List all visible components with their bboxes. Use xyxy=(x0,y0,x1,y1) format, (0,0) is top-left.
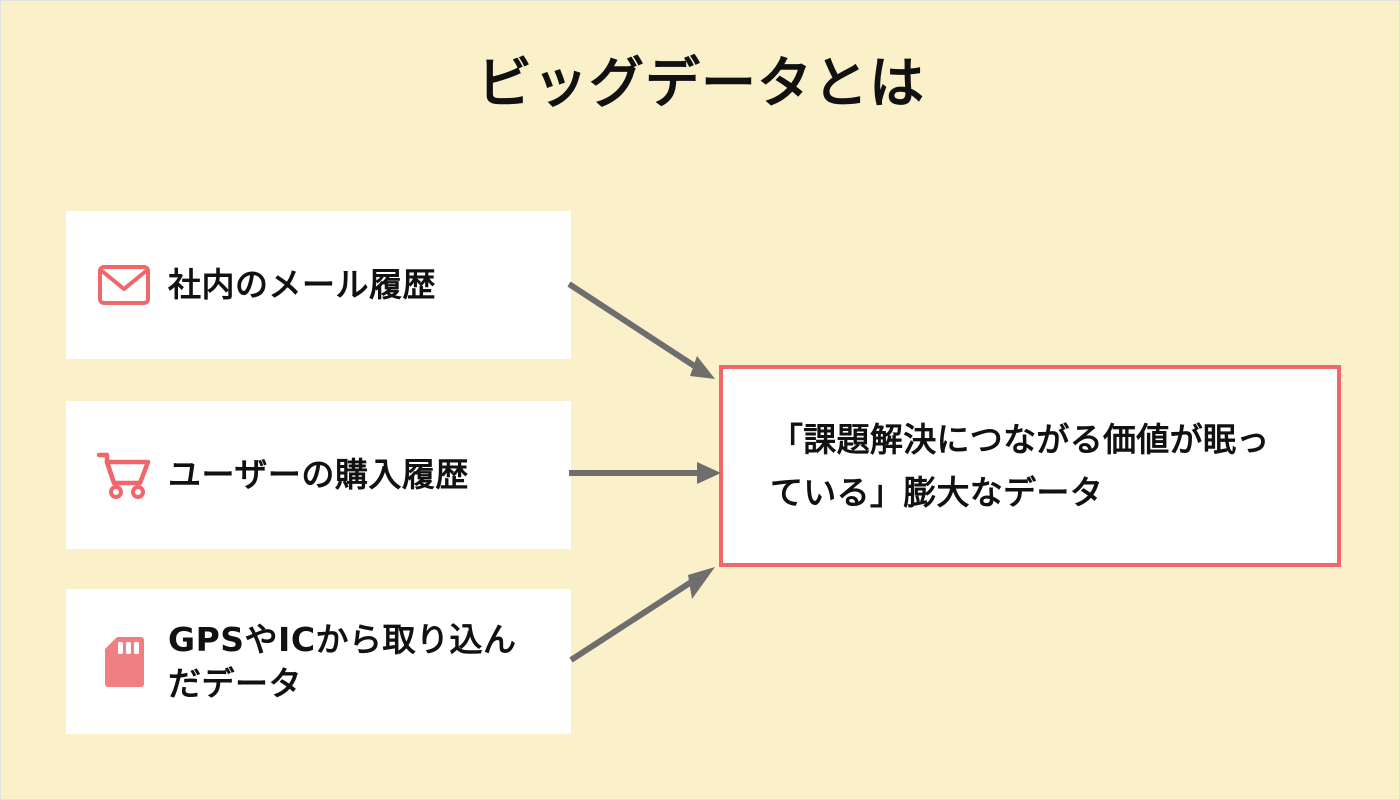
arrow-gps-to-result xyxy=(571,567,715,660)
source-card-gps[interactable]: GPSやICから取り込んだデータ xyxy=(66,589,571,734)
result-text: 「課題解決につながる価値が眠っている」膨大なデータ xyxy=(770,413,1290,520)
sd-card-icon xyxy=(92,635,156,689)
source-card-mail[interactable]: 社内のメール履歴 xyxy=(66,211,571,359)
source-card-label: 社内のメール履歴 xyxy=(168,263,436,307)
slide-canvas: ビッグデータとは 社内のメール履歴 ユーザーの購入履歴 xyxy=(0,0,1400,800)
page-title: ビッグデータとは xyxy=(1,53,1400,114)
source-card-label: ユーザーの購入履歴 xyxy=(168,453,469,497)
source-card-label: GPSやICから取り込んだデータ xyxy=(168,618,543,705)
arrow-purchase-to-result xyxy=(569,462,721,484)
arrow-mail-to-result xyxy=(569,284,715,379)
source-card-purchase[interactable]: ユーザーの購入履歴 xyxy=(66,401,571,549)
shopping-cart-icon xyxy=(92,450,156,500)
mail-envelope-icon xyxy=(92,264,156,306)
result-box[interactable]: 「課題解決につながる価値が眠っている」膨大なデータ xyxy=(719,365,1341,567)
